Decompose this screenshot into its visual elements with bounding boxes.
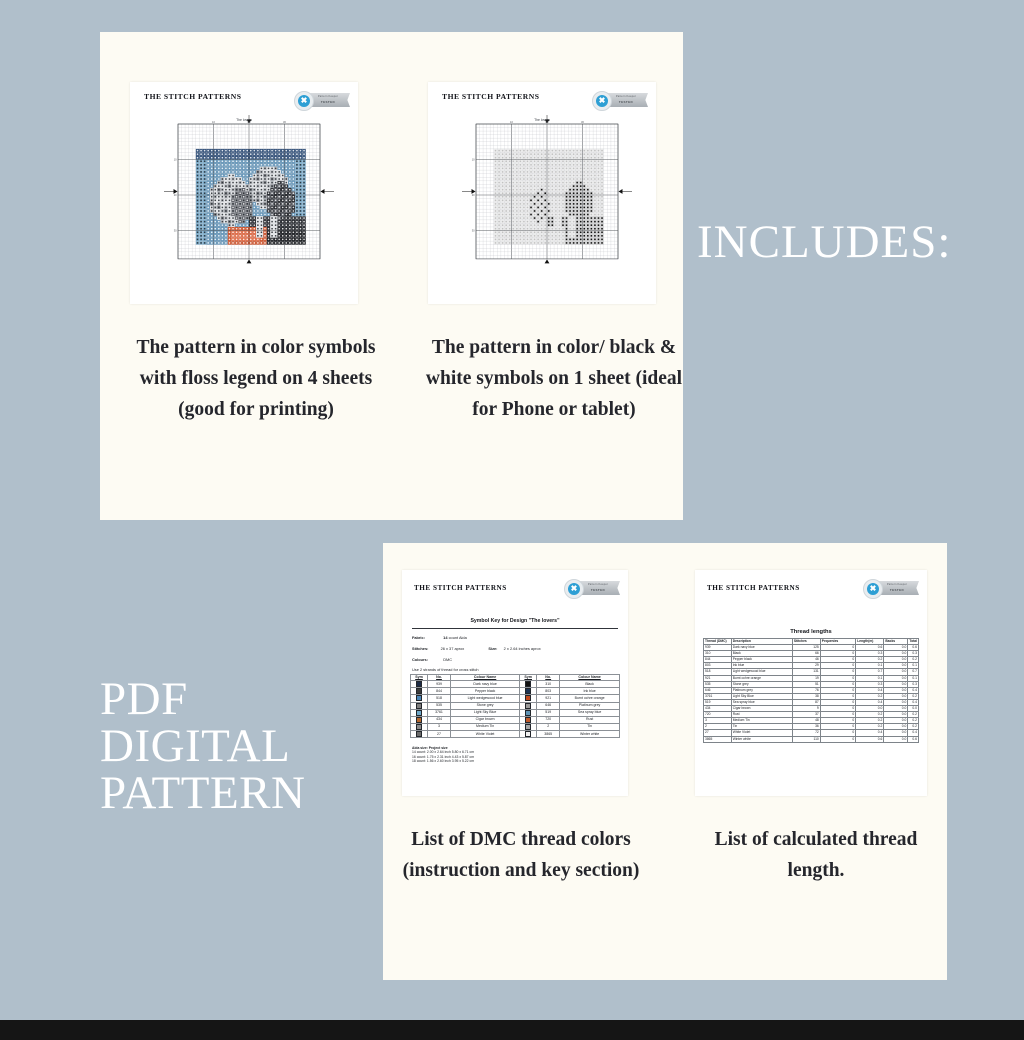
badge-ribbon-line1: Pattern Keeper xyxy=(580,583,616,586)
colours-value: DMC xyxy=(443,657,452,662)
preview-sheet-thread-lengths[interactable]: THE STITCH PATTERNS Pattern Keeper TESTE… xyxy=(695,570,927,796)
dmc-number: 2 xyxy=(537,723,560,730)
preview-sheet-symbol-key[interactable]: THE STITCH PATTERNS Pattern Keeper TESTE… xyxy=(402,570,628,796)
chart-design-label: The lovers xyxy=(236,118,252,122)
colour-name: Dark navy blue xyxy=(451,681,520,688)
symbol-swatch xyxy=(411,731,428,738)
caption-bw-symbols: The pattern in color/ black & white symb… xyxy=(422,332,686,425)
thread-length: 0.6 xyxy=(856,736,884,742)
svg-text:30: 30 xyxy=(472,229,475,233)
table-row: 844Pepper black803Ink blue xyxy=(411,688,620,695)
symbol-key-title: Symbol Key for Design "The lovers" xyxy=(402,618,628,624)
aida-size-line-2: 16 count: 1.75 x 2.31 inch 4.43 x 5.87 c… xyxy=(412,755,474,759)
table-row: 3761Light Sky Blue519Sea spray blue xyxy=(411,709,620,716)
svg-text:30: 30 xyxy=(174,229,177,233)
dmc-number: 720 xyxy=(537,716,560,723)
svg-text:20: 20 xyxy=(472,193,475,197)
aida-size-footer: Aida size: Project size 14 count: 2.00 x… xyxy=(412,746,474,764)
thread-total: 0.6 xyxy=(908,736,919,742)
table-row: 535Stone grey646Platinum grey xyxy=(411,702,620,709)
symbol-swatch xyxy=(520,723,537,730)
dmc-number: 434 xyxy=(428,716,451,723)
svg-text:20: 20 xyxy=(174,193,177,197)
aida-size-line-1: 14 count: 2.00 x 2.64 inch 5.80 x 6.71 c… xyxy=(412,750,474,754)
fabric-value: count Aida xyxy=(448,635,467,640)
colour-name: Light wedgewood blue xyxy=(451,695,520,702)
symbol-key-table: Sym No. Colour Name Sym No. Colour Name … xyxy=(410,674,620,738)
dmc-number: 310 xyxy=(537,681,560,688)
colours-label: Colours: xyxy=(412,657,428,662)
thread-lengths-table: Thread (DMC) Description Stitches Pequen… xyxy=(703,638,919,743)
colour-name: Cigar brown xyxy=(451,716,520,723)
colour-name: Medium Tin xyxy=(451,723,520,730)
table-row: 939Dark navy blue310Black xyxy=(411,681,620,688)
colour-name: Pepper black xyxy=(451,688,520,695)
caption-color-symbols: The pattern in color symbols with floss … xyxy=(124,332,388,425)
badge-ribbon-line2: TESTED xyxy=(879,588,915,592)
dmc-number: 3761 xyxy=(428,709,451,716)
thread-desc: Winter white xyxy=(731,736,792,742)
thread-dmc: 3865 xyxy=(704,736,732,742)
svg-text:10: 10 xyxy=(472,158,475,162)
caption-thread-length: List of calculated thread length. xyxy=(688,824,944,886)
colour-name: Sea spray blue xyxy=(560,709,620,716)
badge-disc-icon: ✖ xyxy=(564,579,584,599)
colour-name: Rust xyxy=(560,716,620,723)
colour-name: Tin xyxy=(560,723,620,730)
symbol-swatch xyxy=(411,688,428,695)
pattern-chart-bw: 102030102030 xyxy=(428,82,656,304)
svg-text:10: 10 xyxy=(510,120,513,124)
symbol-swatch xyxy=(520,716,537,723)
symbol-swatch xyxy=(520,695,537,702)
badge-ribbon-line2: TESTED xyxy=(580,588,616,592)
table-row: 27White Violet3865Winter white xyxy=(411,731,620,738)
preview-sheet-color-symbols[interactable]: THE STITCH PATTERNS Pattern Keeper TESTE… xyxy=(130,82,358,304)
symbol-swatch xyxy=(411,695,428,702)
svg-text:30: 30 xyxy=(283,120,286,124)
thread-pequenies: 0 xyxy=(820,736,855,742)
strands-note: Use 2 strands of thread for cross stitch xyxy=(412,667,479,672)
colour-name: Light Sky Blue xyxy=(451,709,520,716)
sheet-header: THE STITCH PATTERNS Pattern Keeper TESTE… xyxy=(402,570,628,600)
dmc-number: 803 xyxy=(537,688,560,695)
aida-size-line-3: 18 count: 1.56 x 2.60 inch 3.95 x 5.22 c… xyxy=(412,759,474,763)
dmc-number: 3865 xyxy=(537,731,560,738)
badge-ribbon-line1: Pattern Keeper xyxy=(879,583,915,586)
dmc-number: 519 xyxy=(537,709,560,716)
sheet-brand-title: THE STITCH PATTERNS xyxy=(414,584,507,592)
symbol-swatch xyxy=(411,702,428,709)
thread-backs: 0.0 xyxy=(884,736,908,742)
colour-name: Burnt ochre orange xyxy=(560,695,620,702)
stitches-value: 26 x 37 aprox xyxy=(441,646,465,651)
dmc-number: 535 xyxy=(428,702,451,709)
sheet-brand-title: THE STITCH PATTERNS xyxy=(707,584,800,592)
colour-name: Black xyxy=(560,681,620,688)
colours-row: Colours: DMC xyxy=(412,657,452,662)
symbol-swatch xyxy=(520,702,537,709)
symbol-swatch xyxy=(520,709,537,716)
symbol-swatch xyxy=(520,731,537,738)
pattern-keeper-tested-badge: Pattern Keeper TESTED ✖ xyxy=(562,578,620,598)
symbol-swatch xyxy=(411,716,428,723)
pdf-line-3: PATTERN xyxy=(100,770,305,817)
includes-heading: INCLUDES: xyxy=(697,214,951,270)
dmc-number: 921 xyxy=(537,695,560,702)
symbol-swatch xyxy=(411,709,428,716)
stitches-label: Stitches: xyxy=(412,646,428,651)
symbol-swatch xyxy=(520,681,537,688)
dmc-number: 844 xyxy=(428,688,451,695)
colour-name: Stone grey xyxy=(451,702,520,709)
pdf-line-2: DIGITAL xyxy=(100,723,305,770)
pattern-chart-color: 102030102030 xyxy=(130,82,358,304)
badge-cross-icon: ✖ xyxy=(568,583,580,595)
colour-name: Platinum grey xyxy=(560,702,620,709)
bottom-strip xyxy=(0,1020,1024,1040)
size-label: Size: xyxy=(488,646,497,651)
badge-cross-icon: ✖ xyxy=(867,583,879,595)
size-value: 2 x 2.64 inches aprox xyxy=(504,646,541,651)
col-total: Total xyxy=(908,639,919,645)
colour-name: White Violet xyxy=(451,731,520,738)
dmc-number: 646 xyxy=(537,702,560,709)
colour-name: Ink blue xyxy=(560,688,620,695)
dmc-number: 518 xyxy=(428,695,451,702)
table-row: 434Cigar brown720Rust xyxy=(411,716,620,723)
svg-text:10: 10 xyxy=(174,158,177,162)
table-row: 3865Winter white11000.60.00.6 xyxy=(704,736,919,742)
pdf-line-1: PDF xyxy=(100,676,305,723)
dmc-number: 3 xyxy=(428,723,451,730)
thread-stitches: 110 xyxy=(792,736,820,742)
colour-name: Winter white xyxy=(560,731,620,738)
sheet-header: THE STITCH PATTERNS Pattern Keeper TESTE… xyxy=(695,570,927,600)
pattern-keeper-tested-badge: Pattern Keeper TESTED ✖ xyxy=(861,578,919,598)
symbol-swatch xyxy=(411,681,428,688)
dmc-number: 27 xyxy=(428,731,451,738)
symbol-swatch xyxy=(520,688,537,695)
aida-size-title: Aida size: Project size xyxy=(412,746,448,750)
dmc-number: 939 xyxy=(428,681,451,688)
chart-design-label: The lovers xyxy=(534,118,550,122)
table-row: 3Medium Tin2Tin xyxy=(411,723,620,730)
fabric-row: Fabric: 14 count Aida xyxy=(412,635,467,640)
svg-text:10: 10 xyxy=(212,120,215,124)
caption-dmc-list: List of DMC thread colors (instruction a… xyxy=(396,824,646,886)
preview-sheet-bw-symbols[interactable]: THE STITCH PATTERNS Pattern Keeper TESTE… xyxy=(428,82,656,304)
svg-text:30: 30 xyxy=(581,120,584,124)
symbol-key-divider xyxy=(412,628,618,629)
pdf-digital-pattern-heading: PDF DIGITAL PATTERN xyxy=(100,676,305,817)
table-row: 518Light wedgewood blue921Burnt ochre or… xyxy=(411,695,620,702)
stitches-row: Stitches: 26 x 37 aprox Size: 2 x 2.64 i… xyxy=(412,646,541,651)
fabric-label: Fabric: xyxy=(412,635,425,640)
badge-disc-icon: ✖ xyxy=(863,579,883,599)
symbol-swatch xyxy=(411,723,428,730)
thread-lengths-title: Thread lengths xyxy=(695,629,927,635)
